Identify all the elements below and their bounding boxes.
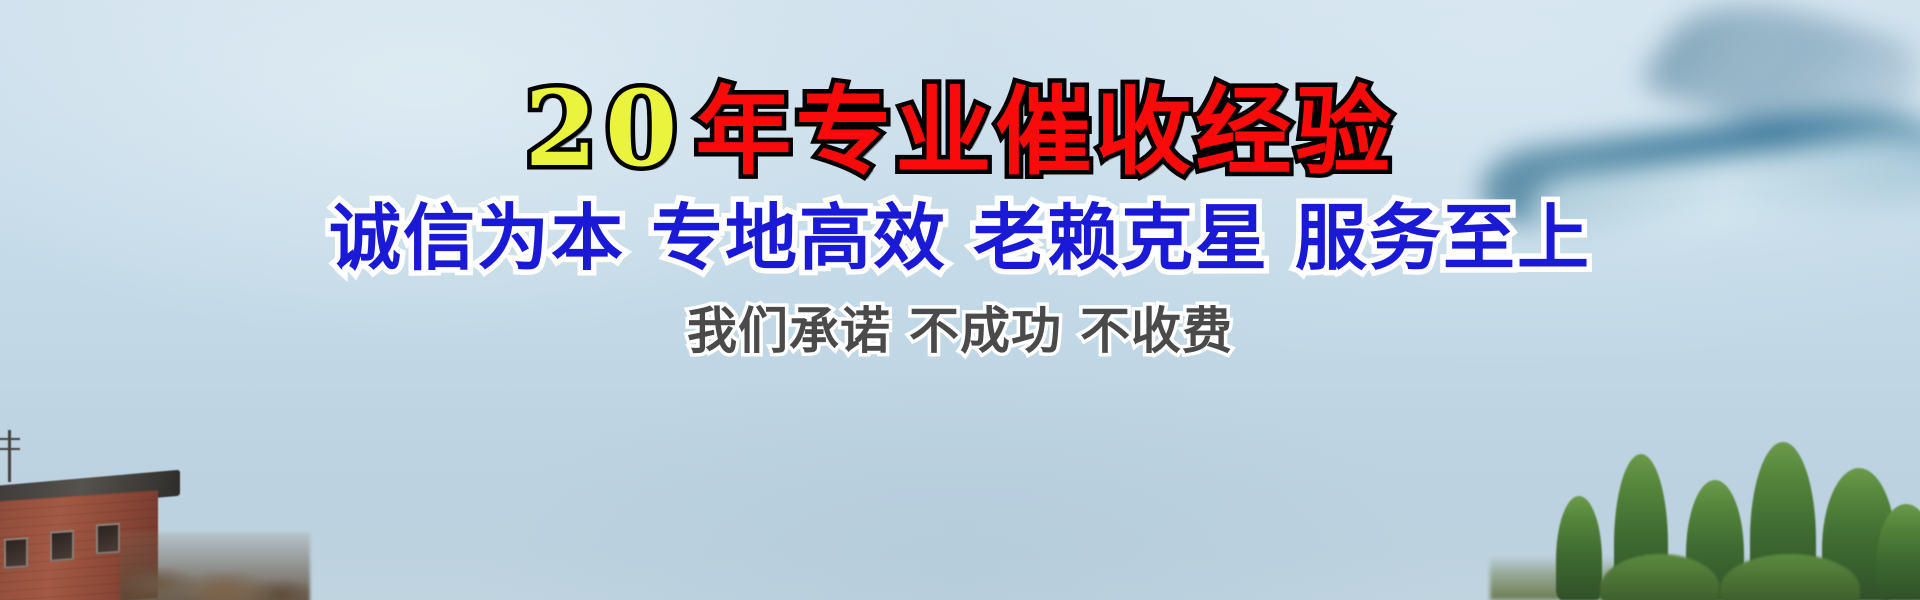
tagline-segment-2: 专地高效	[651, 196, 947, 280]
promise-segment-3: 不收费	[1080, 302, 1233, 360]
banner-text-layer: 20年专业催收经验 诚信为本专地高效老赖克星服务至上 我们承诺不成功不收费	[0, 0, 1920, 600]
tagline-segment-3: 老赖克星	[973, 196, 1269, 280]
promise-segment-2: 不成功	[909, 302, 1062, 360]
headline-years-number: 20	[525, 67, 696, 190]
promo-banner: 20年专业催收经验 诚信为本专地高效老赖克星服务至上 我们承诺不成功不收费	[0, 0, 1920, 600]
headline: 20年专业催收经验	[525, 74, 1396, 183]
promise-text: 我们承诺不成功不收费	[687, 304, 1233, 359]
headline-main-text: 年专业催收经验	[695, 76, 1395, 188]
tagline-segment-4: 服务至上	[1295, 196, 1591, 280]
tagline-segment-1: 诚信为本	[329, 196, 625, 280]
tagline: 诚信为本专地高效老赖克星服务至上	[329, 199, 1591, 278]
promise-segment-1: 我们承诺	[687, 302, 891, 360]
